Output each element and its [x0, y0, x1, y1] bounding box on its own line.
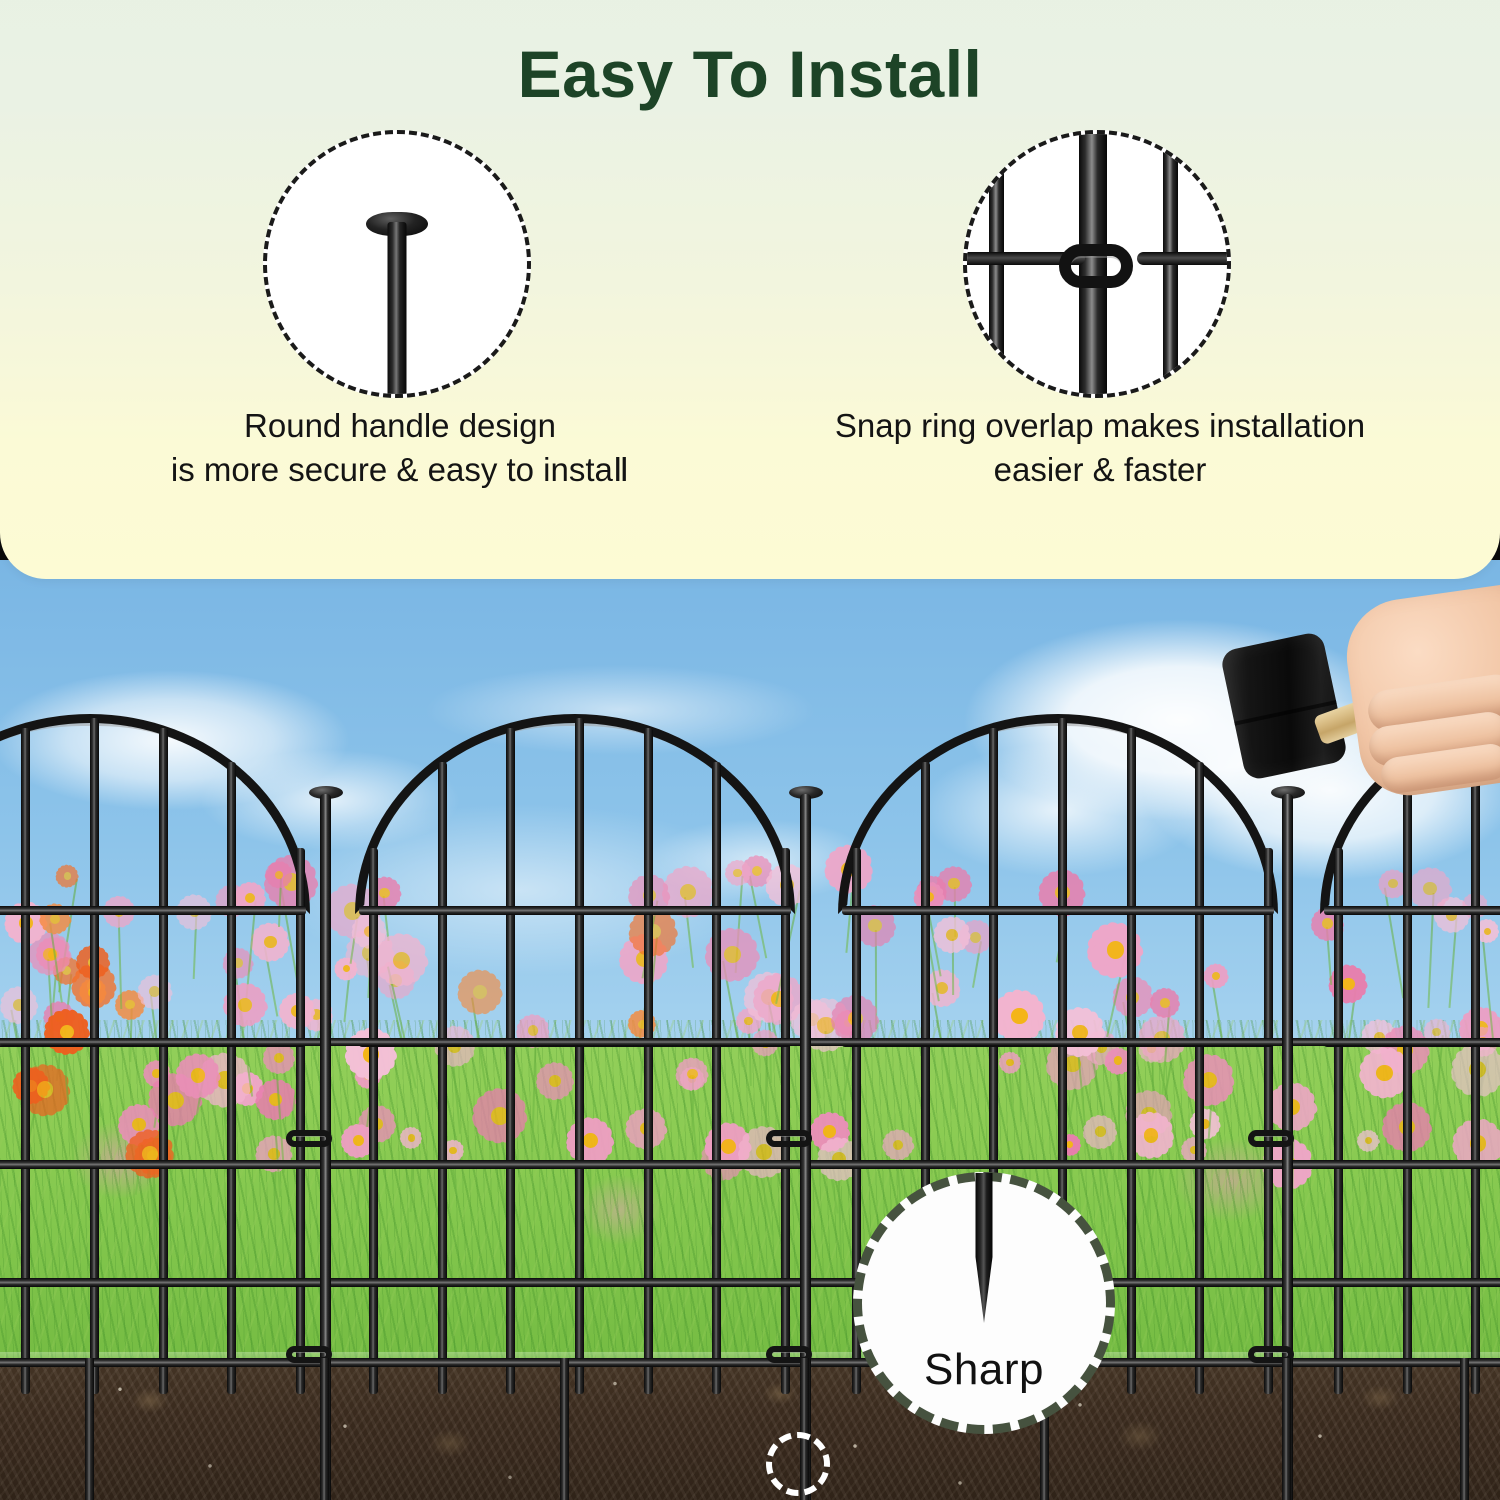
fence-horizontal-rail: [842, 906, 1274, 915]
ground-stake: [1282, 1358, 1291, 1500]
stake-shaft-icon: [388, 222, 407, 398]
caption-line-2: easier & faster: [715, 448, 1485, 492]
arched-garden-fence: [0, 690, 1500, 1390]
sharp-tip-callout: Sharp: [853, 1172, 1115, 1434]
fence-vertical-bar: [712, 762, 721, 1394]
fence-vertical-bar: [1334, 848, 1343, 1394]
fence-horizontal-rail: [359, 906, 791, 915]
fence-vertical-bar: [21, 728, 30, 1394]
caption-line-2: is more secure & easy to instaⅡ: [30, 448, 770, 492]
round-handle-callout: [263, 130, 531, 398]
fence-vertical-bar: [296, 848, 305, 1394]
fence-arch-icon: [0, 714, 310, 914]
fence-horizontal-rail: [1324, 906, 1500, 915]
snap-ring-callout: [963, 130, 1231, 398]
caption-line-1: Snap ring overlap makes installation: [715, 404, 1485, 448]
page-title: Easy To Install: [0, 36, 1500, 112]
sharp-label: Sharp: [924, 1345, 1044, 1395]
snap-ring-connector-icon: [286, 1130, 332, 1147]
snap-ring-caption: Snap ring overlap makes installation eas…: [715, 404, 1485, 491]
round-handle-caption: Round handle design is more secure & eas…: [30, 404, 770, 491]
fence-vertical-bar: [159, 728, 168, 1394]
fence-vertical-bar: [438, 762, 447, 1394]
infographic-canvas: Sharp Easy To Install Round handle desig…: [0, 0, 1500, 1500]
ground-stake: [85, 1358, 94, 1500]
feature-card-panel: Easy To Install Round handle design is m…: [0, 0, 1500, 579]
snap-ring-connector-icon: [766, 1130, 812, 1147]
fence-vertical-bar: [369, 848, 378, 1394]
fence-horizontal-rail: [0, 1038, 1500, 1046]
fence-vertical-bar: [1403, 762, 1412, 1394]
ground-stake: [560, 1358, 569, 1500]
ground-stake: [1460, 1358, 1469, 1500]
fence-vertical-bar: [506, 728, 515, 1394]
fence-horizontal-rail: [0, 906, 306, 915]
fence-horizontal-rail: [0, 1278, 1500, 1287]
snap-ring-connector-icon: [1248, 1130, 1294, 1147]
sharp-stake-tip-icon: [976, 1173, 993, 1323]
dashed-circle-marker-icon: [766, 1432, 830, 1496]
fence-vertical-bar: [90, 718, 99, 1394]
snap-ring-wire-icon: [1137, 252, 1231, 265]
fence-vertical-bar: [1471, 728, 1480, 1394]
fence-vertical-bar: [1127, 728, 1136, 1394]
fence-vertical-bar: [227, 762, 236, 1394]
fence-vertical-bar: [1264, 848, 1273, 1394]
ground-stake: [320, 1358, 329, 1500]
fence-vertical-bar: [644, 728, 653, 1394]
fence-vertical-bar: [1195, 762, 1204, 1394]
fence-vertical-bar: [781, 848, 790, 1394]
snap-ring-hook-icon: [1059, 244, 1133, 288]
fence-horizontal-rail: [0, 1160, 1500, 1169]
fence-vertical-bar: [575, 718, 584, 1394]
caption-line-1: Round handle design: [30, 404, 770, 448]
